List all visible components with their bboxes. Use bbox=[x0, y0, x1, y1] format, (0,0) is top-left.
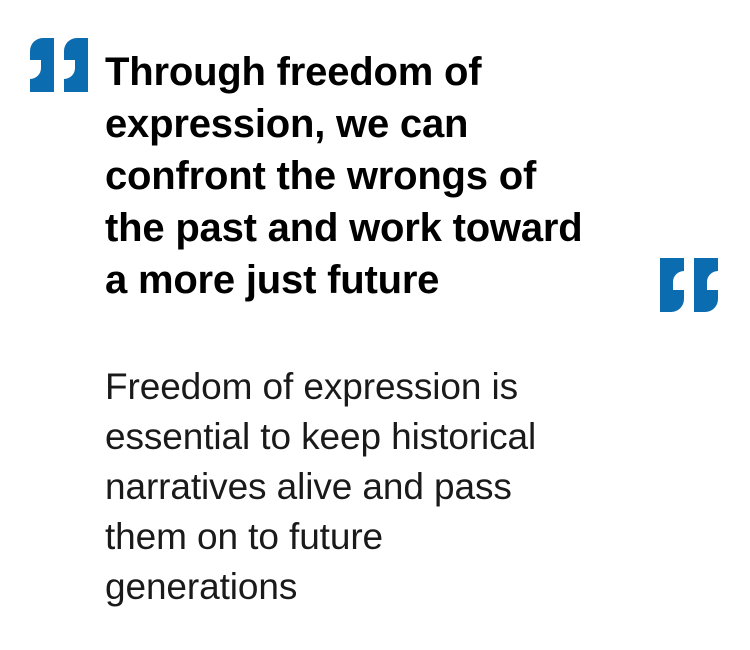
quote-heading-line: Through freedom of bbox=[105, 46, 665, 98]
quote-heading-line: a more just future bbox=[105, 254, 665, 306]
quote-heading-line: the past and work toward bbox=[105, 202, 665, 254]
open-quote-icon-stroke-right bbox=[64, 38, 88, 92]
quote-heading-line: expression, we can bbox=[105, 98, 665, 150]
quote-heading-line: confront the wrongs of bbox=[105, 150, 665, 202]
quote-body-line: them on to future bbox=[105, 512, 635, 562]
quote-heading: Through freedom of expression, we can co… bbox=[105, 46, 665, 306]
open-quote-icon bbox=[30, 38, 88, 92]
quote-body-line: essential to keep historical bbox=[105, 412, 635, 462]
close-quote-icon-stroke-right bbox=[694, 258, 718, 312]
quote-body-line: narratives alive and pass bbox=[105, 462, 635, 512]
open-quote-icon-stroke-left bbox=[30, 38, 54, 92]
quote-body-line: Freedom of expression is bbox=[105, 362, 635, 412]
quote-body-text: Freedom of expression is essential to ke… bbox=[105, 362, 635, 612]
pull-quote-card: Through freedom of expression, we can co… bbox=[0, 0, 750, 650]
quote-body-line: generations bbox=[105, 562, 635, 612]
close-quote-icon bbox=[660, 258, 718, 312]
